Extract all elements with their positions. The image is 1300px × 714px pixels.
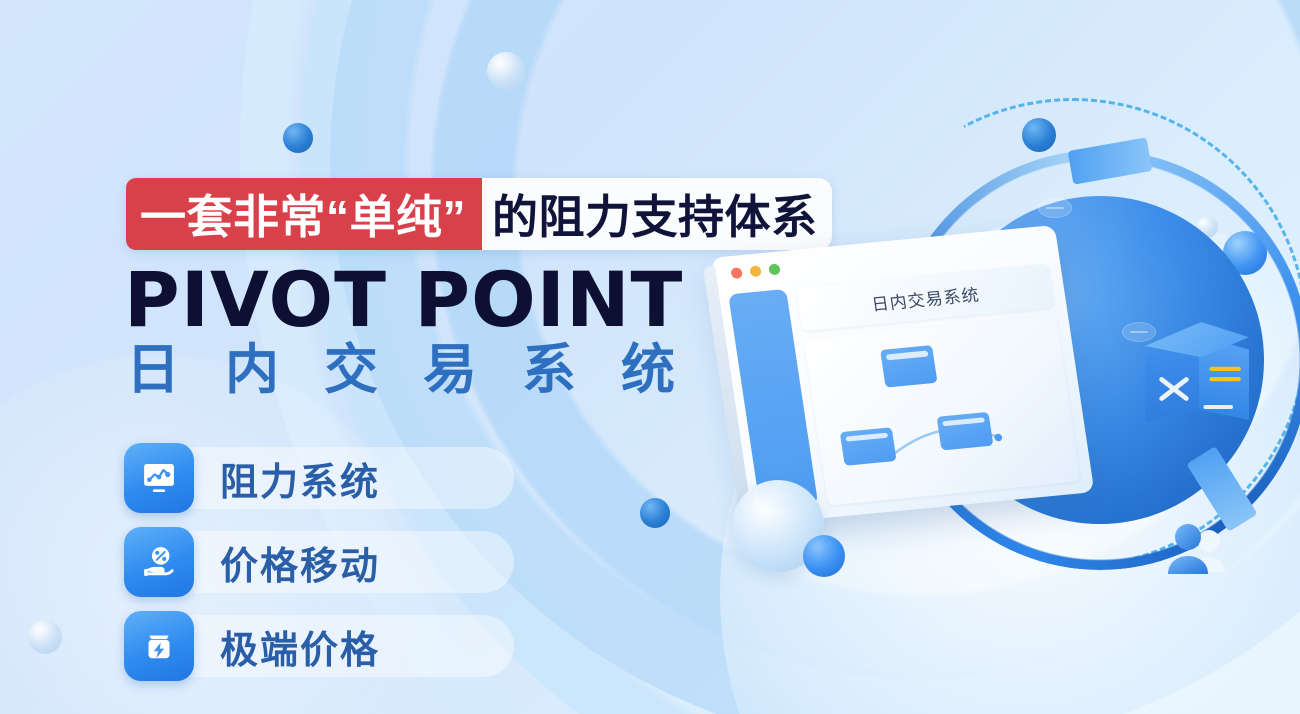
page-title-chinese: 日 内 交 易 系 统 <box>126 343 690 397</box>
hand-percent-icon <box>124 527 194 597</box>
minimize-icon[interactable] <box>749 265 762 277</box>
headline-banner-red-text: 一套非常“单纯” <box>126 178 482 250</box>
decor-dot-2 <box>283 123 313 153</box>
diagram-node-bottom-right <box>937 412 994 451</box>
diagram-node-bottom-left <box>840 427 897 466</box>
users-icon <box>1160 520 1234 576</box>
chart-monitor-icon <box>124 443 194 513</box>
feature-list: 阻力系统 价格移动 <box>124 443 514 695</box>
decor-dot-7 <box>28 620 62 654</box>
ring-notch-top <box>1038 198 1072 218</box>
window-content: 日内交易系统 <box>796 264 1081 506</box>
equals-icon <box>1209 362 1243 386</box>
window-diagram <box>804 315 1081 505</box>
feature-item-label: 价格移动 <box>220 535 380 590</box>
poster-canvas: 一套非常“单纯” 的阻力支持体系 PIVOT POINT 日 内 交 易 系 统… <box>0 0 1300 714</box>
decor-sphere-small <box>803 535 845 577</box>
close-icon[interactable] <box>730 267 743 279</box>
hero-illustration: 日内交易系统 <box>690 40 1300 714</box>
multiply-icon <box>1155 370 1193 408</box>
decor-dot-6 <box>640 498 670 528</box>
feature-item-resistance-system[interactable]: 阻力系统 <box>124 443 514 513</box>
maximize-icon[interactable] <box>768 263 781 275</box>
minus-icon <box>1203 402 1235 412</box>
feature-item-price-movement[interactable]: 价格移动 <box>124 527 514 597</box>
feature-item-label: 极端价格 <box>220 619 380 674</box>
window-traffic-lights <box>730 263 780 279</box>
math-cube <box>1145 322 1249 434</box>
feature-item-extreme-price[interactable]: 极端价格 <box>124 611 514 681</box>
page-title-english: PIVOT POINT <box>124 262 683 338</box>
diagram-node-top <box>880 345 937 388</box>
battery-bolt-icon <box>124 611 194 681</box>
diagram-connector <box>804 315 1081 505</box>
feature-item-label: 阻力系统 <box>220 451 380 506</box>
decor-dot-1 <box>487 52 525 90</box>
